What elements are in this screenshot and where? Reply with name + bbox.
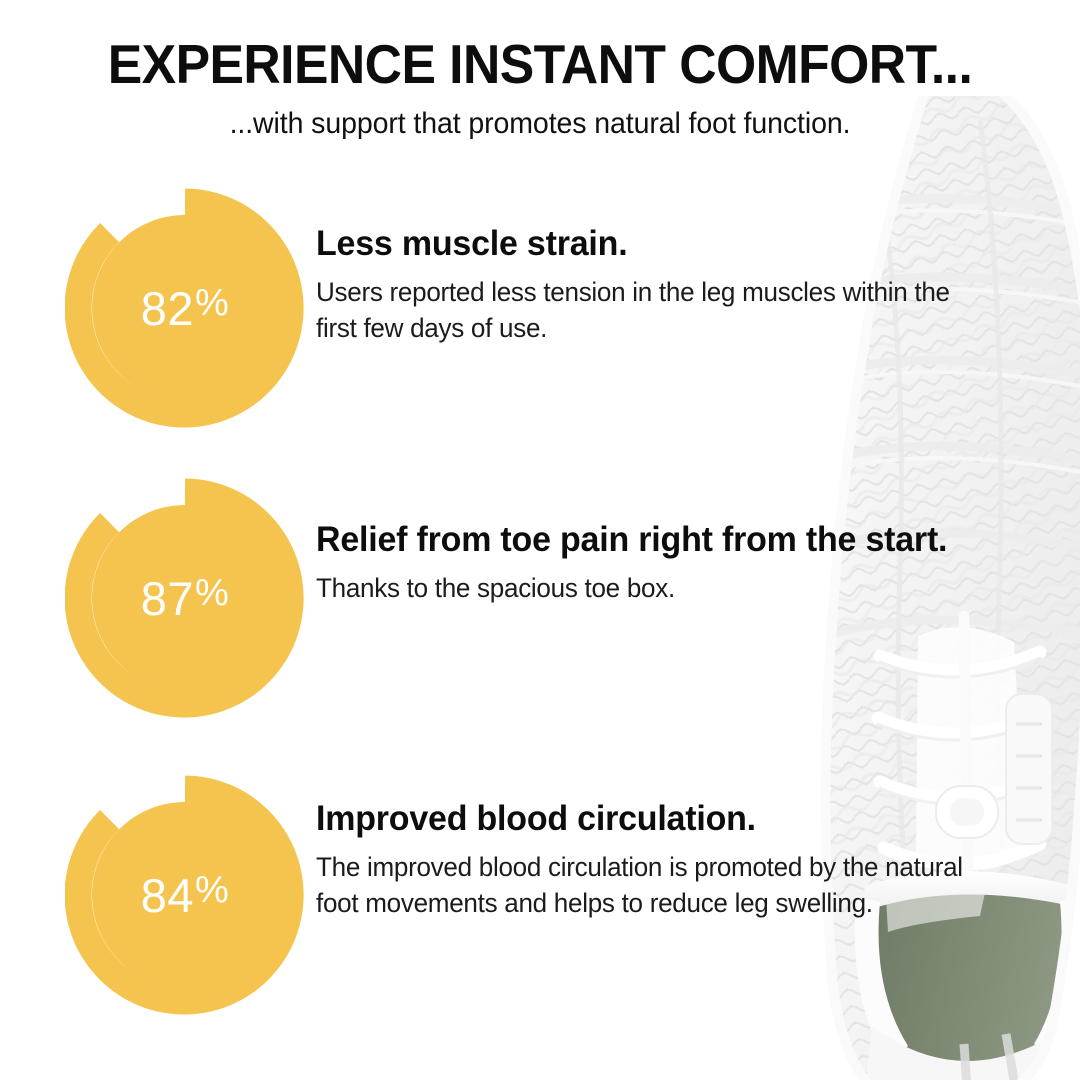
stat-text-block: Less muscle strain. Users reported less … (316, 224, 1016, 346)
page-title: EXPERIENCE INSTANT COMFORT... (32, 36, 1047, 93)
page-subtitle: ...with support that promotes natural fo… (27, 107, 1053, 140)
gauge-number: 84 (141, 872, 194, 919)
percent-sign: % (195, 284, 229, 322)
stat-body: Users reported less tension in the leg m… (316, 275, 992, 346)
gauge-number: 87 (141, 575, 194, 622)
stat-body: Thanks to the spacious toe box. (316, 571, 992, 607)
percent-sign: % (195, 574, 229, 612)
stat-heading: Improved blood circulation. (316, 799, 995, 840)
stat-heading: Relief from toe pain right from the star… (316, 520, 995, 561)
stat-text-block: Relief from toe pain right from the star… (316, 520, 1016, 607)
gauge-value: 87% (65, 478, 305, 718)
gauge-number: 82 (141, 285, 194, 332)
stat-heading: Less muscle strain. (316, 224, 995, 265)
stat-body: The improved blood circulation is promot… (316, 850, 992, 921)
progress-gauge: 82% (65, 188, 305, 428)
gauge-value: 82% (65, 188, 305, 428)
infographic-canvas: EXPERIENCE INSTANT COMFORT... ...with su… (0, 0, 1080, 1080)
progress-gauge: 87% (65, 478, 305, 718)
stat-text-block: Improved blood circulation. The improved… (316, 799, 1016, 921)
percent-sign: % (195, 871, 229, 909)
gauge-value: 84% (65, 775, 305, 1015)
header-block: EXPERIENCE INSTANT COMFORT... ...with su… (0, 36, 1080, 140)
progress-gauge: 84% (65, 775, 305, 1015)
